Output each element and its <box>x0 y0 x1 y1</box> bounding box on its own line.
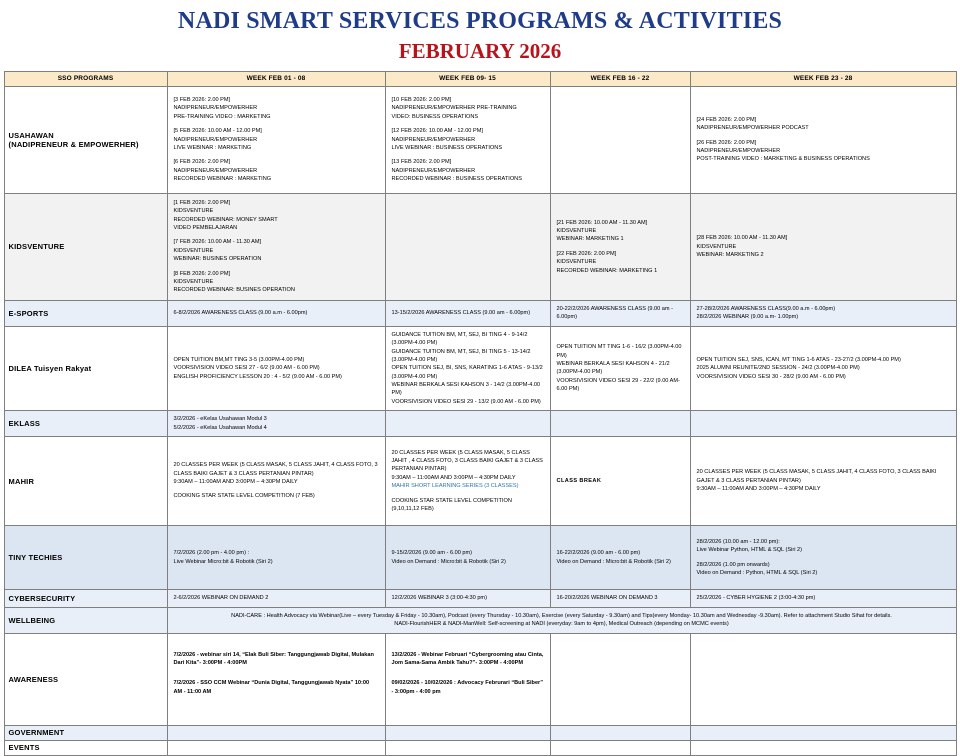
entry-line: 9:30AM – 11:00AM AND 3:00PM – 4:30PM DAI… <box>392 474 544 482</box>
week-cell-2 <box>385 740 550 755</box>
entry-line: [22 FEB 2026: 2.00 PM] <box>557 250 684 258</box>
table-row: USAHAWAN(NADIPRENEUR & EMPOWERHER)[3 FEB… <box>4 86 956 193</box>
cell-content: 13/2/2026 - Webinar Februari “Cybergroom… <box>392 651 544 697</box>
entry-line: WEBINAR BERKALA SESI KAHSON 3 - 14/2 (3.… <box>392 381 544 398</box>
week-cell-1: OPEN TUITION BM,MT TING 3-5 (3.00PM-4.00… <box>167 326 385 411</box>
entry-line: 12/2/2026 WEBINAR 3 (3:00-4:30 pm) <box>392 594 544 602</box>
table-row: KIDSVENTURE[1 FEB 2026: 2.00 PM]KIDSVENT… <box>4 193 956 300</box>
week-cell-3 <box>550 633 690 725</box>
cell-content: [21 FEB 2026: 10.00 AM - 11.30 AM]KIDSVE… <box>557 219 684 275</box>
entry-block: OPEN TUITION BM,MT TING 3-5 (3.00PM-4.00… <box>174 356 379 381</box>
entry-line: 7/2/2026 (2.00 pm - 4.00 pm) : <box>174 549 379 557</box>
entry-block: 20 CLASSES PER WEEK (5 CLASS MASAK, 5 CL… <box>697 468 950 493</box>
cell-content: 13-15/2/2026 AWARENESS CLASS (9.00 am - … <box>392 309 544 317</box>
program-name: USAHAWAN <box>9 131 163 140</box>
week-cell-1: 7/2/2026 (2.00 pm - 4.00 pm) :Live Webin… <box>167 526 385 590</box>
entry-block: 7/2/2026 (2.00 pm - 4.00 pm) :Live Webin… <box>174 549 379 566</box>
entry-line: OPEN TUITION SEJ, SNS, ICAN, MT TING 1-6… <box>697 356 950 364</box>
entry-line: COOKING STAR STATE LEVEL COMPETITION (7 … <box>174 492 379 500</box>
program-name-cell: EVENTS <box>4 740 167 755</box>
page-subtitle: FEBRUARY 2026 <box>0 39 960 63</box>
entry-line: 16-20/2/2026 WEBINAR ON DEMAND 3 <box>557 594 684 602</box>
entry-line: KIDSVENTURE <box>174 278 379 286</box>
entry-line: 7/2/2026 - SSO CCM Webinar “Dunia Digita… <box>174 679 379 696</box>
week-cell-3 <box>550 86 690 193</box>
week-cell-1: [1 FEB 2026: 2.00 PM]KIDSVENTURERECORDED… <box>167 193 385 300</box>
cell-content: 20 CLASSES PER WEEK (5 CLASS MASAK, 5 CL… <box>392 449 544 483</box>
entry-line: VOORSIVISION VIDEO SESI 29 - 13/2 (9.00 … <box>392 398 544 406</box>
entry-block: 27-28/2/2026 AWARENESS CLASS(9.00 a.m - … <box>697 305 950 322</box>
entry-block: COOKING STAR STATE LEVEL COMPETITION(9,1… <box>392 497 544 514</box>
cell-content: [24 FEB 2026: 2.00 PM]NADIPRENEUR/EMPOWE… <box>697 116 950 164</box>
entry-line: Live Webinar Python, HTML & SQL (Siri 2) <box>697 546 950 554</box>
entry-line: NADIPRENEUR/EMPOWERHER <box>174 136 379 144</box>
cell-content: 3/2/2026 - eKelas Usahawan Modul 35/2/20… <box>174 415 379 432</box>
entry-block: 6-8/2/2026 AWARENESS CLASS (9.00 a.m - 6… <box>174 309 379 317</box>
week-cell-3: 20-22/2/2026 AWARENESS CLASS (9.00 am - … <box>550 300 690 326</box>
entry-block: [24 FEB 2026: 2.00 PM]NADIPRENEUR/EMPOWE… <box>697 116 950 133</box>
entry-line: [3 FEB 2026: 2.00 PM] <box>174 96 379 104</box>
entry-line: NADIPRENEUR/EMPOWERHER PRE-TRAINING <box>392 104 544 112</box>
entry-line: [24 FEB 2026: 2.00 PM] <box>697 116 950 124</box>
program-name: AWARENESS <box>9 675 163 684</box>
entry-line: [26 FEB 2026: 2.00 PM] <box>697 139 950 147</box>
week-cell-3: CLASS BREAK <box>550 437 690 526</box>
program-name-cell: TINY TECHIES <box>4 526 167 590</box>
entry-block: 28/2/2026 (1.00 pm onwards)Video on Dema… <box>697 561 950 578</box>
entry-block: OPEN TUITION SEJ, SNS, ICAN, MT TING 1-6… <box>697 356 950 381</box>
program-name-cell: MAHIR <box>4 437 167 526</box>
table-row: EVENTS <box>4 740 956 755</box>
table-row: CYBERSECURITY2-6/2/2026 WEBINAR ON DEMAN… <box>4 590 956 608</box>
program-name: E-SPORTS <box>9 309 163 318</box>
page-title: NADI SMART SERVICES PROGRAMS & ACTIVITIE… <box>0 8 960 36</box>
class-break-label: CLASS BREAK <box>557 478 602 484</box>
entry-line: [6 FEB 2026: 2.00 PM] <box>174 158 379 166</box>
entry-block: 16-22/2/2026 (9.00 am - 6.00 pm)Video on… <box>557 549 684 566</box>
entry-block: [12 FEB 2026: 10.00 AM - 12.00 PM]NADIPR… <box>392 127 544 152</box>
cell-content: 9-15/2/2026 (9.00 am - 6.00 pm)Video on … <box>392 549 544 566</box>
entry-line: Video on Demand : Python, HTML & SQL (Si… <box>697 569 950 577</box>
entry-line: 20-22/2/2026 AWARENESS CLASS (9.00 am - … <box>557 305 684 322</box>
entry-block: 3/2/2026 - eKelas Usahawan Modul 35/2/20… <box>174 415 379 432</box>
entry-line: [28 FEB 2026: 10.00 AM - 11.30 AM] <box>697 234 950 242</box>
week-cell-1: 6-8/2/2026 AWARENESS CLASS (9.00 a.m - 6… <box>167 300 385 326</box>
week-cell-4: OPEN TUITION SEJ, SNS, ICAN, MT TING 1-6… <box>690 326 956 411</box>
entry-block: 20 CLASSES PER WEEK (5 CLASS MASAK, 5 CL… <box>392 449 544 483</box>
entry-block: [5 FEB 2026: 10.00 AM - 12.00 PM]NADIPRE… <box>174 127 379 152</box>
table-row: WELLBEINGNADI-CARE : Health Advocacy via… <box>4 608 956 634</box>
entry-line: OPEN TUITION BM,MT TING 3-5 (3.00PM-4.00… <box>174 356 379 364</box>
week-cell-3 <box>550 725 690 740</box>
table-row: E-SPORTS6-8/2/2026 AWARENESS CLASS (9.00… <box>4 300 956 326</box>
table-row: EKLASS3/2/2026 - eKelas Usahawan Modul 3… <box>4 411 956 437</box>
cell-content: GUIDANCE TUITION BM, MT, SEJ, BI TING 4 … <box>392 331 544 407</box>
entry-line: 9:30AM – 11:00AM AND 3:00PM – 4:30PM DAI… <box>697 485 950 493</box>
week-cell-4 <box>690 740 956 755</box>
entry-block: [21 FEB 2026: 10.00 AM - 11.30 AM]KIDSVE… <box>557 219 684 244</box>
entry-line: GUIDANCE TUITION BM, MT, SEJ, BI TING 4 … <box>392 331 544 348</box>
entry-line: 13-15/2/2026 AWARENESS CLASS (9.00 am - … <box>392 309 544 317</box>
program-name-cell: AWARENESS <box>4 633 167 725</box>
week-cell-4: 28/2/2026 (10.00 am - 12.00 pm):Live Web… <box>690 526 956 590</box>
col-header-week-3: WEEK FEB 16 - 22 <box>550 71 690 86</box>
entry-block: 9-15/2/2026 (9.00 am - 6.00 pm)Video on … <box>392 549 544 566</box>
week-cell-1: 7/2/2026 - webinar siri 14, “Elak Buli S… <box>167 633 385 725</box>
entry-line: 28/2/2026 (1.00 pm onwards) <box>697 561 950 569</box>
entry-block: 16-20/2/2026 WEBINAR ON DEMAND 3 <box>557 594 684 602</box>
entry-line: 20 CLASSES PER WEEK (5 CLASS MASAK, 5 CL… <box>392 449 544 474</box>
week-cell-1 <box>167 725 385 740</box>
entry-block: 13-15/2/2026 AWARENESS CLASS (9.00 am - … <box>392 309 544 317</box>
entry-block: 13/2/2026 - Webinar Februari “Cybergroom… <box>392 651 544 668</box>
week-cell-2: 13-15/2/2026 AWARENESS CLASS (9.00 am - … <box>385 300 550 326</box>
week-cell-1 <box>167 740 385 755</box>
entry-line: 13/2/2026 - Webinar Februari “Cybergroom… <box>392 651 544 668</box>
program-name-cell: GOVERNMENT <box>4 725 167 740</box>
entry-line: WEBINAR BERKALA SESI KAHSON 4 - 21/2 (3.… <box>557 360 684 377</box>
week-cell-1: [3 FEB 2026: 2.00 PM]NADIPRENEUR/EMPOWER… <box>167 86 385 193</box>
entry-line: RECORDED WEBINAR: MONEY SMART <box>174 216 379 224</box>
entry-line: KIDSVENTURE <box>174 207 379 215</box>
entry-line: [21 FEB 2026: 10.00 AM - 11.30 AM] <box>557 219 684 227</box>
cell-content: 6-8/2/2026 AWARENESS CLASS (9.00 a.m - 6… <box>174 309 379 317</box>
entry-line: OPEN TUITION MT TING 1-6 - 16/2 (3.00PM-… <box>557 343 684 360</box>
entry-block: [3 FEB 2026: 2.00 PM]NADIPRENEUR/EMPOWER… <box>174 96 379 121</box>
week-cell-1: 2-6/2/2026 WEBINAR ON DEMAND 2 <box>167 590 385 608</box>
program-name: MAHIR <box>9 477 163 486</box>
cell-content: 2-6/2/2026 WEBINAR ON DEMAND 2 <box>174 594 379 602</box>
program-name-cell: E-SPORTS <box>4 300 167 326</box>
entry-line: LIVE WEBINAR : MARKETING <box>174 144 379 152</box>
entry-line: NADIPRENEUR/EMPOWERHER <box>174 104 379 112</box>
entry-line: NADIPRENEUR/EMPOWERHER PODCAST <box>697 124 950 132</box>
week-cell-3 <box>550 740 690 755</box>
entry-line: VIDEO: BUSINESS OPERATIONS <box>392 113 544 121</box>
entry-line: [8 FEB 2026: 2.00 PM] <box>174 270 379 278</box>
cell-content: 7/2/2026 (2.00 pm - 4.00 pm) :Live Webin… <box>174 549 379 566</box>
entry-line: RECORDED WEBINAR : MARKETING <box>174 175 379 183</box>
week-cell-2: 9-15/2/2026 (9.00 am - 6.00 pm)Video on … <box>385 526 550 590</box>
cell-content: 7/2/2026 - webinar siri 14, “Elak Buli S… <box>174 651 379 697</box>
entry-line: [1 FEB 2026: 2.00 PM] <box>174 199 379 207</box>
week-cell-4 <box>690 725 956 740</box>
header-row: SSO PROGRAMS WEEK FEB 01 - 08 WEEK FEB 0… <box>4 71 956 86</box>
entry-line: WEBINAR: MARKETING 2 <box>697 251 950 259</box>
table-body: USAHAWAN(NADIPRENEUR & EMPOWERHER)[3 FEB… <box>4 86 956 755</box>
table-row: AWARENESS7/2/2026 - webinar siri 14, “El… <box>4 633 956 725</box>
entry-line: VOORSIVISION VIDEO SESI 29 - 22/2 (9.00 … <box>557 377 684 394</box>
week-cell-1: 3/2/2026 - eKelas Usahawan Modul 35/2/20… <box>167 411 385 437</box>
entry-line: [7 FEB 2026: 10.00 AM - 11.30 AM] <box>174 238 379 246</box>
cell-content: 16-20/2/2026 WEBINAR ON DEMAND 3 <box>557 594 684 602</box>
entry-line: NADI-CARE : Health Advocacy via Webinar(… <box>174 612 950 620</box>
table-row: TINY TECHIES7/2/2026 (2.00 pm - 4.00 pm)… <box>4 526 956 590</box>
entry-line: Video on Demand : Micro:bit & Robotik (S… <box>557 558 684 566</box>
week-cell-2 <box>385 411 550 437</box>
program-name: EVENTS <box>9 743 163 752</box>
cell-content: 20 CLASSES PER WEEK (5 CLASS MASAK, 5 CL… <box>697 468 950 493</box>
week-cell-4: [28 FEB 2026: 10.00 AM - 11.30 AM]KIDSVE… <box>690 193 956 300</box>
program-name: KIDSVENTURE <box>9 242 163 251</box>
entry-line: [12 FEB 2026: 10.00 AM - 12.00 PM] <box>392 127 544 135</box>
entry-block: [22 FEB 2026: 2.00 PM]KIDSVENTURERECORDE… <box>557 250 684 275</box>
program-subtitle: (NADIPRENEUR & EMPOWERHER) <box>9 140 163 149</box>
program-name-cell: KIDSVENTURE <box>4 193 167 300</box>
entry-line: 28/2/2026 (10.00 am - 12.00 pm): <box>697 538 950 546</box>
week-cell-1: 20 CLASSES PER WEEK (5 CLASS MASAK, 5 CL… <box>167 437 385 526</box>
entry-line: VIDEO PEMBELAJARAN <box>174 224 379 232</box>
week-cell-2: 20 CLASSES PER WEEK (5 CLASS MASAK, 5 CL… <box>385 437 550 526</box>
entry-line: VOORSIVISION VIDEO SESI 30 - 28/2 (9.00 … <box>697 373 950 381</box>
cell-content: 20 CLASSES PER WEEK (5 CLASS MASAK, 5 CL… <box>174 461 379 501</box>
entry-line: 27-28/2/2026 AWARENESS CLASS(9.00 a.m - … <box>697 305 950 313</box>
program-name-cell: EKLASS <box>4 411 167 437</box>
week-cell-4: 25/2/2026 - CYBER HYGIENE 2 (3:00-4:30 p… <box>690 590 956 608</box>
program-name: DILEA Tuisyen Rakyat <box>9 364 163 373</box>
cell-content: COOKING STAR STATE LEVEL COMPETITION(9,1… <box>392 497 544 514</box>
program-name-cell: USAHAWAN(NADIPRENEUR & EMPOWERHER) <box>4 86 167 193</box>
week-cell-4 <box>690 633 956 725</box>
entry-block: 7/2/2026 - SSO CCM Webinar “Dunia Digita… <box>174 679 379 696</box>
table-header: SSO PROGRAMS WEEK FEB 01 - 08 WEEK FEB 0… <box>4 71 956 86</box>
entry-block: 20-22/2/2026 AWARENESS CLASS (9.00 am - … <box>557 305 684 322</box>
entry-line: NADIPRENEUR/EMPOWERHER <box>174 167 379 175</box>
program-name: WELLBEING <box>9 616 163 625</box>
cell-content: 16-22/2/2026 (9.00 am - 6.00 pm)Video on… <box>557 549 684 566</box>
entry-block: [28 FEB 2026: 10.00 AM - 11.30 AM]KIDSVE… <box>697 234 950 259</box>
entry-line: KIDSVENTURE <box>557 258 684 266</box>
entry-line: 2-6/2/2026 WEBINAR ON DEMAND 2 <box>174 594 379 602</box>
program-name: TINY TECHIES <box>9 553 163 562</box>
entry-line: 16-22/2/2026 (9.00 am - 6.00 pm) <box>557 549 684 557</box>
cell-content: OPEN TUITION SEJ, SNS, ICAN, MT TING 1-6… <box>697 356 950 381</box>
entry-line: Video on Demand : Micro:bit & Robotik (S… <box>392 558 544 566</box>
cell-content: OPEN TUITION MT TING 1-6 - 16/2 (3.00PM-… <box>557 343 684 393</box>
week-cell-2: 12/2/2026 WEBINAR 3 (3:00-4:30 pm) <box>385 590 550 608</box>
cell-content: [1 FEB 2026: 2.00 PM]KIDSVENTURERECORDED… <box>174 199 379 295</box>
schedule-page: NADI SMART SERVICES PROGRAMS & ACTIVITIE… <box>0 0 960 720</box>
week-cell-4: [24 FEB 2026: 2.00 PM]NADIPRENEUR/EMPOWE… <box>690 86 956 193</box>
highlight-entry: MAHIR SHORT LEARNING SERIES (3 CLASSES) <box>392 482 544 490</box>
entry-line: [13 FEB 2026: 2.00 PM] <box>392 158 544 166</box>
entry-line: 28/2/2026 WEBINAR (9.00 a.m- 1.00pm) <box>697 313 950 321</box>
entry-line: WEBINAR: MARKETING 1 <box>557 235 684 243</box>
cell-content: 27-28/2/2026 AWARENESS CLASS(9.00 a.m - … <box>697 305 950 322</box>
week-cell-3: 16-20/2/2026 WEBINAR ON DEMAND 3 <box>550 590 690 608</box>
entry-line: 5/2/2026 - eKelas Usahawan Modul 4 <box>174 424 379 432</box>
entry-line: RECORDED WEBINAR: BUSINES OPERATION <box>174 286 379 294</box>
entry-block: 12/2/2026 WEBINAR 3 (3:00-4:30 pm) <box>392 594 544 602</box>
entry-block: GUIDANCE TUITION BM, MT, SEJ, BI TING 4 … <box>392 331 544 407</box>
entry-block: 09/02/2026 - 10/02/2026 : Advocacy Febru… <box>392 679 544 696</box>
table-row: GOVERNMENT <box>4 725 956 740</box>
entry-line: KIDSVENTURE <box>697 243 950 251</box>
col-header-week-4: WEEK FEB 23 - 28 <box>690 71 956 86</box>
entry-line: 2025 ALUMNI REUNITE/2ND SESSION - 24/2 (… <box>697 364 950 372</box>
table-row: DILEA Tuisyen RakyatOPEN TUITION BM,MT T… <box>4 326 956 411</box>
entry-line: NADIPRENEUR/EMPOWERHER <box>392 167 544 175</box>
week-cell-2: GUIDANCE TUITION BM, MT, SEJ, BI TING 4 … <box>385 326 550 411</box>
entry-line: COOKING STAR STATE LEVEL COMPETITION <box>392 497 544 505</box>
entry-line: RECORDED WEBINAR: MARKETING 1 <box>557 267 684 275</box>
page-title-block: NADI SMART SERVICES PROGRAMS & ACTIVITIE… <box>0 0 960 63</box>
entry-block: [6 FEB 2026: 2.00 PM]NADIPRENEUR/EMPOWER… <box>174 158 379 183</box>
entry-block: 25/2/2026 - CYBER HYGIENE 2 (3:00-4:30 p… <box>697 594 950 602</box>
entry-block: [1 FEB 2026: 2.00 PM]KIDSVENTURERECORDED… <box>174 199 379 233</box>
week-cell-3 <box>550 411 690 437</box>
week-cell-2 <box>385 725 550 740</box>
program-name: CYBERSECURITY <box>9 594 163 603</box>
entry-line: 25/2/2026 - CYBER HYGIENE 2 (3:00-4:30 p… <box>697 594 950 602</box>
entry-block: OPEN TUITION MT TING 1-6 - 16/2 (3.00PM-… <box>557 343 684 393</box>
cell-content: 28/2/2026 (10.00 am - 12.00 pm):Live Web… <box>697 538 950 578</box>
entry-line: KIDSVENTURE <box>557 227 684 235</box>
table-row: MAHIR20 CLASSES PER WEEK (5 CLASS MASAK,… <box>4 437 956 526</box>
cell-content: 20-22/2/2026 AWARENESS CLASS (9.00 am - … <box>557 305 684 322</box>
entry-line: OPEN TUITION SEJ, BI, SNS, KARATING 1-6 … <box>392 364 544 381</box>
entry-block: [13 FEB 2026: 2.00 PM]NADIPRENEUR/EMPOWE… <box>392 158 544 183</box>
entry-line: VOORSIVISION VIDEO SESI 27 - 6/2 (9.00 A… <box>174 364 379 372</box>
entry-block: COOKING STAR STATE LEVEL COMPETITION (7 … <box>174 492 379 500</box>
week-cell-merged: NADI-CARE : Health Advocacy via Webinar(… <box>167 608 956 634</box>
program-name-cell: DILEA Tuisyen Rakyat <box>4 326 167 411</box>
col-header-sso-programs: SSO PROGRAMS <box>4 71 167 86</box>
entry-block: [8 FEB 2026: 2.00 PM]KIDSVENTURERECORDED… <box>174 270 379 295</box>
program-name-cell: CYBERSECURITY <box>4 590 167 608</box>
entry-line: 20 CLASSES PER WEEK (5 CLASS MASAK, 5 CL… <box>174 461 379 478</box>
entry-line: ENGLISH PROFICIENCY LESSON 20 : 4 - 5/2 … <box>174 373 379 381</box>
cell-content: OPEN TUITION BM,MT TING 3-5 (3.00PM-4.00… <box>174 356 379 381</box>
program-name: GOVERNMENT <box>9 728 163 737</box>
entry-block: [26 FEB 2026: 2.00 PM]NADIPRENEUR/EMPOWE… <box>697 139 950 164</box>
week-cell-3: [21 FEB 2026: 10.00 AM - 11.30 AM]KIDSVE… <box>550 193 690 300</box>
entry-line: 3/2/2026 - eKelas Usahawan Modul 3 <box>174 415 379 423</box>
entry-line: LIVE WEBINAR : BUSINESS OPERATIONS <box>392 144 544 152</box>
entry-line: 9-15/2/2026 (9.00 am - 6.00 pm) <box>392 549 544 557</box>
entry-block: 20 CLASSES PER WEEK (5 CLASS MASAK, 5 CL… <box>174 461 379 486</box>
entry-line: 6-8/2/2026 AWARENESS CLASS (9.00 a.m - 6… <box>174 309 379 317</box>
entry-line: 20 CLASSES PER WEEK (5 CLASS MASAK, 5 CL… <box>697 468 950 485</box>
week-cell-2: 13/2/2026 - Webinar Februari “Cybergroom… <box>385 633 550 725</box>
entry-line: POST-TRAINING VIDEO : MARKETING & BUSINE… <box>697 155 950 163</box>
entry-line: NADIPRENEUR/EMPOWERHER <box>697 147 950 155</box>
week-cell-2 <box>385 193 550 300</box>
cell-content: [28 FEB 2026: 10.00 AM - 11.30 AM]KIDSVE… <box>697 234 950 259</box>
col-header-week-1: WEEK FEB 01 - 08 <box>167 71 385 86</box>
entry-block: 2-6/2/2026 WEBINAR ON DEMAND 2 <box>174 594 379 602</box>
cell-content: 12/2/2026 WEBINAR 3 (3:00-4:30 pm) <box>392 594 544 602</box>
entry-block: [7 FEB 2026: 10.00 AM - 11.30 AM]KIDSVEN… <box>174 238 379 263</box>
week-cell-4: 20 CLASSES PER WEEK (5 CLASS MASAK, 5 CL… <box>690 437 956 526</box>
entry-block: 7/2/2026 - webinar siri 14, “Elak Buli S… <box>174 651 379 668</box>
entry-line: Live Webinar Micro:bit & Robotik (Siri 2… <box>174 558 379 566</box>
entry-line: 09/02/2026 - 10/02/2026 : Advocacy Febru… <box>392 679 544 696</box>
week-cell-3: 16-22/2/2026 (9.00 am - 6.00 pm)Video on… <box>550 526 690 590</box>
week-cell-3: OPEN TUITION MT TING 1-6 - 16/2 (3.00PM-… <box>550 326 690 411</box>
program-name-cell: WELLBEING <box>4 608 167 634</box>
entry-line: [10 FEB 2026: 2.00 PM] <box>392 96 544 104</box>
week-cell-4 <box>690 411 956 437</box>
col-header-week-2: WEEK FEB 09- 15 <box>385 71 550 86</box>
cell-content: [3 FEB 2026: 2.00 PM]NADIPRENEUR/EMPOWER… <box>174 96 379 184</box>
week-cell-2: [10 FEB 2026: 2.00 PM]NADIPRENEUR/EMPOWE… <box>385 86 550 193</box>
entry-line: PRE-TRAINING VIDEO : MARKETING <box>174 113 379 121</box>
entry-line: KIDSVENTURE <box>174 247 379 255</box>
entry-line: NADIPRENEUR/EMPOWERHER <box>392 136 544 144</box>
cell-content: [10 FEB 2026: 2.00 PM]NADIPRENEUR/EMPOWE… <box>392 96 544 184</box>
entry-line: [5 FEB 2026: 10.00 AM - 12.00 PM] <box>174 127 379 135</box>
entry-line: WEBINAR: BUSINES OPERATION <box>174 255 379 263</box>
entry-line: 9:30AM – 11:00AM AND 3:00PM – 4:30PM DAI… <box>174 478 379 486</box>
program-name: EKLASS <box>9 419 163 428</box>
entry-line: 7/2/2026 - webinar siri 14, “Elak Buli S… <box>174 651 379 668</box>
cell-content: 25/2/2026 - CYBER HYGIENE 2 (3:00-4:30 p… <box>697 594 950 602</box>
entry-line: NADI-FlourishHER & NADI-ManWell: Self-sc… <box>174 620 950 628</box>
schedule-table: SSO PROGRAMS WEEK FEB 01 - 08 WEEK FEB 0… <box>4 71 957 756</box>
week-cell-4: 27-28/2/2026 AWARENESS CLASS(9.00 a.m - … <box>690 300 956 326</box>
entry-line: GUIDANCE TUITION BM, MT, SEJ, BI TING 5 … <box>392 348 544 365</box>
entry-line: RECORDED WEBINAR : BUSINESS OPERATIONS <box>392 175 544 183</box>
entry-block: [10 FEB 2026: 2.00 PM]NADIPRENEUR/EMPOWE… <box>392 96 544 121</box>
entry-line: (9,10,11,12 FEB) <box>392 505 544 513</box>
entry-block: 28/2/2026 (10.00 am - 12.00 pm):Live Web… <box>697 538 950 555</box>
